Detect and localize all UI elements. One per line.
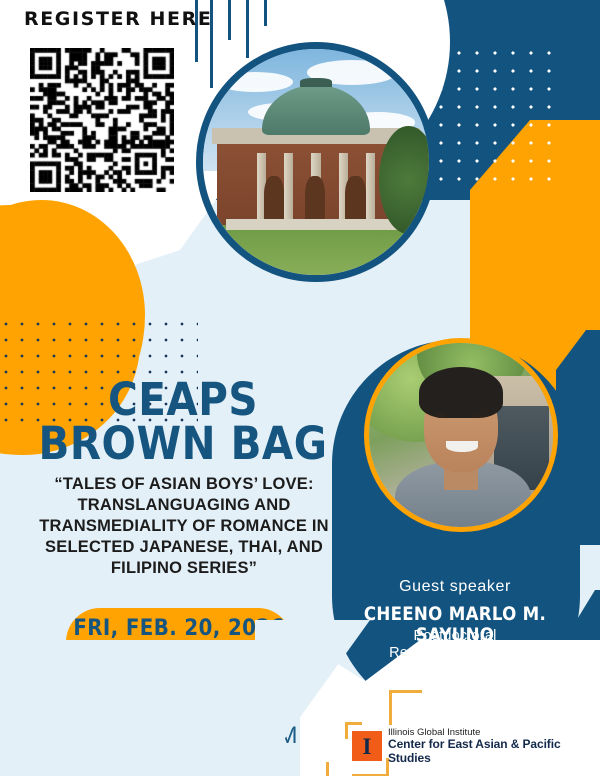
dome-cupola: [300, 78, 332, 87]
entrance-door-1: [264, 176, 284, 221]
qr-code[interactable]: [30, 48, 174, 192]
column-5: [366, 153, 375, 221]
organization-logo: I Illinois Global Institute Center for E…: [352, 728, 600, 765]
bar-decoration-5: [264, 0, 267, 26]
corner-bracket-small-bottom: [326, 762, 341, 776]
headline-line-2: BROWN BAG: [18, 422, 348, 466]
page-title: CEAPS BROWN BAG: [18, 378, 348, 466]
register-here-label: REGISTER HERE: [24, 8, 212, 30]
logo-center-name: Center for East Asian & Pacific Studies: [388, 738, 600, 764]
portrait-smile: [446, 441, 477, 452]
logo-letter: I: [363, 735, 372, 758]
event-date: FRI, FEB. 20, 2026: [73, 617, 284, 642]
tree-right: [379, 126, 436, 234]
cloud-1: [217, 72, 294, 92]
portrait-hair: [419, 367, 504, 419]
entrance-door-2: [305, 176, 325, 221]
logo-text: Illinois Global Institute Center for Eas…: [388, 728, 600, 765]
column-2: [284, 153, 293, 221]
speaker-portrait: [364, 338, 558, 532]
illinois-block-i-icon: I: [352, 731, 382, 761]
building-steps: [226, 219, 407, 230]
bar-decoration-3: [228, 0, 231, 40]
photo-lawn: [203, 225, 429, 275]
talk-title: “TALES OF ASIAN BOYS’ LOVE: TRANSLANGUAG…: [18, 474, 350, 580]
building-photo: [196, 42, 436, 282]
event-poster: REGISTER HERE CEAPS BROWN BAG “TALES OF …: [0, 0, 600, 776]
entrance-door-3: [345, 176, 365, 221]
guest-speaker-label: Guest speaker: [340, 578, 570, 596]
corner-bracket-top: [389, 690, 422, 725]
